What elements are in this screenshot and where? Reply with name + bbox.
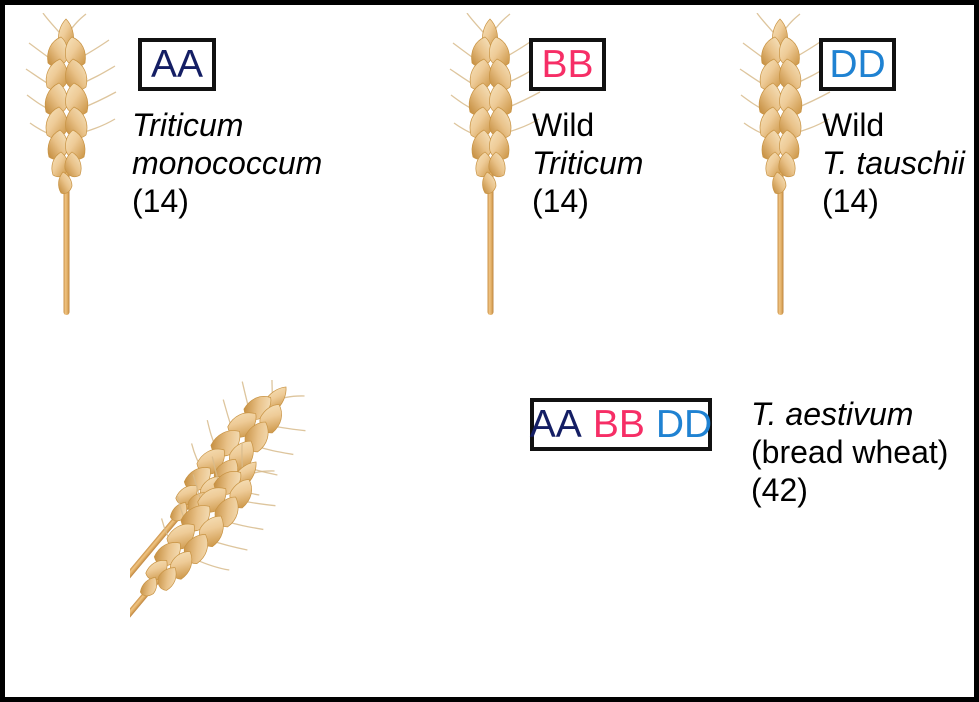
- genome-letter-d1: D: [829, 45, 857, 84]
- species-label-hybrid: T. aestivum (bread wheat) (42): [751, 395, 948, 509]
- species-label-parent-b: Wild Triticum (14): [532, 106, 643, 220]
- genome-letter-b1: B: [541, 45, 567, 84]
- figure-canvas: AA Triticum monococcum (14) BB Wild Trit…: [0, 0, 979, 702]
- genome-group-dd: DD: [656, 405, 712, 444]
- genome-box-dd: DD: [819, 38, 896, 91]
- chromosome-count-a: (14): [132, 182, 322, 220]
- species-label-parent-d: Wild T. tauschii (14): [822, 106, 965, 220]
- genome-box-bb: BB: [529, 38, 606, 91]
- species-name-line-1: Wild: [532, 106, 643, 144]
- chromosome-count-b: (14): [532, 182, 643, 220]
- wheat-ears-pair-icon-hybrid: [130, 380, 450, 685]
- wheat-ear-icon-parent-a: [23, 13, 119, 318]
- species-name-line-1: T. aestivum: [751, 395, 948, 433]
- genome-box-aa: AA: [138, 38, 216, 91]
- genome-letter-b2: B: [568, 45, 594, 84]
- genome-box-aabbdd: AA BB DD: [530, 398, 712, 451]
- chromosome-count-d: (14): [822, 182, 965, 220]
- species-name-line-2: Triticum: [532, 144, 643, 182]
- genome-letter-d2: D: [858, 45, 886, 84]
- species-name-line-1: Triticum: [132, 106, 322, 144]
- species-label-parent-a: Triticum monococcum (14): [132, 106, 322, 220]
- common-name-line: (bread wheat): [751, 433, 948, 471]
- genome-group-bb: BB: [593, 405, 645, 444]
- genome-letter-a1: A: [151, 45, 177, 84]
- species-name-line-1: Wild: [822, 106, 965, 144]
- chromosome-count-hybrid: (42): [751, 471, 948, 509]
- genome-group-aa: AA: [530, 405, 582, 444]
- species-name-line-2: T. tauschii: [822, 144, 965, 182]
- species-name-line-2: monococcum: [132, 144, 322, 182]
- genome-letter-a2: A: [177, 45, 203, 84]
